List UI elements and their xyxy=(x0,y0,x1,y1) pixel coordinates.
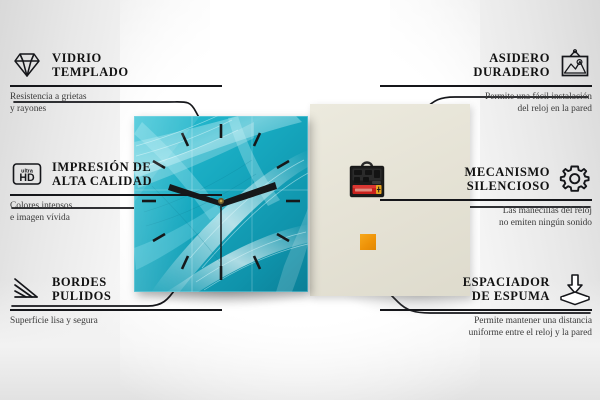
feature-espaciador-de-espuma: ESPACIADOR DE ESPUMA Permite mantener un… xyxy=(380,272,592,339)
feature-divider xyxy=(10,309,222,311)
feature-vidrio-templado: VIDRIO TEMPLADO Resistencia a grietas y … xyxy=(10,48,222,115)
feature-divider xyxy=(10,194,222,196)
hanging-frame-icon xyxy=(558,48,592,82)
polished-edges-icon xyxy=(10,272,44,306)
feature-title: MECANISMO SILENCIOSO xyxy=(464,165,550,194)
feature-subtitle: Permite una fácil instalación del reloj … xyxy=(380,91,592,115)
feature-header: ultra HD IMPRESIÓN DE ALTA CALIDAD xyxy=(10,157,222,191)
feature-divider xyxy=(10,85,222,87)
feature-header: ESPACIADOR DE ESPUMA xyxy=(380,272,592,306)
feature-mecanismo-silencioso: MECANISMO SILENCIOSO Las manecillas del … xyxy=(380,162,592,229)
feature-subtitle: Las manecillas del reloj no emiten ningú… xyxy=(380,205,592,229)
feature-title: ESPACIADOR DE ESPUMA xyxy=(463,275,550,304)
feature-title: ASIDERO DURADERO xyxy=(473,51,550,80)
feature-asidero-duradero: ASIDERO DURADERO Permite una fácil insta… xyxy=(380,48,592,115)
feature-title: VIDRIO TEMPLADO xyxy=(52,51,129,80)
ultra-hd-large-label: HD xyxy=(19,172,35,184)
feature-subtitle: Colores intensos e imagen vívida xyxy=(10,200,222,224)
feature-divider xyxy=(380,85,592,87)
foam-spacer xyxy=(360,234,380,254)
gear-icon xyxy=(558,162,592,196)
feature-header: ASIDERO DURADERO xyxy=(380,48,592,82)
infographic-canvas: VIDRIO TEMPLADO Resistencia a grietas y … xyxy=(0,0,600,400)
feature-header: MECANISMO SILENCIOSO xyxy=(380,162,592,196)
feature-title: IMPRESIÓN DE ALTA CALIDAD xyxy=(52,160,152,189)
feature-header: VIDRIO TEMPLADO xyxy=(10,48,222,82)
diamond-icon xyxy=(10,48,44,82)
feature-impresion-alta-calidad: ultra HD IMPRESIÓN DE ALTA CALIDAD Color… xyxy=(10,157,222,224)
feature-bordes-pulidos: BORDES PULIDOS Superficie lisa y segura xyxy=(10,272,222,327)
feature-subtitle: Permite mantener una distancia uniforme … xyxy=(380,315,592,339)
feature-divider xyxy=(380,309,592,311)
feature-title: BORDES PULIDOS xyxy=(52,275,111,304)
feature-subtitle: Superficie lisa y segura xyxy=(10,315,222,327)
foam-spacer-square xyxy=(360,234,376,250)
feature-divider xyxy=(380,199,592,201)
feature-header: BORDES PULIDOS xyxy=(10,272,222,306)
arrow-on-foam-icon xyxy=(558,272,592,306)
ultra-hd-icon: ultra HD xyxy=(10,157,44,191)
feature-subtitle: Resistencia a grietas y rayones xyxy=(10,91,222,115)
